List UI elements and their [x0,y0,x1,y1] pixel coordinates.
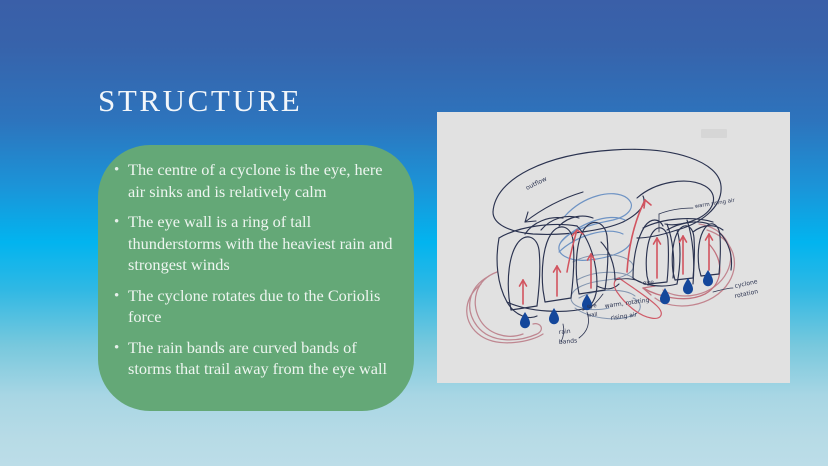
label-eye: eye [642,279,654,287]
cyclone-diagram-image: outflow warm rising air cyclone rotation… [437,112,790,383]
warm-rising-arrows-right [654,234,713,278]
list-item: • The eye wall is a ring of tall thunder… [112,211,398,276]
label-warm-rotating-line1: warm, rotating [604,297,650,310]
eye-leader-line [615,279,641,282]
list-item: • The rain bands are curved bands of sto… [112,337,398,380]
page-title: STRUCTURE [98,83,302,119]
bullet-text: The rain bands are curved bands of storm… [128,337,398,380]
bullet-marker-icon: • [112,159,128,181]
bullet-content-card: • The centre of a cyclone is the eye, he… [98,145,414,411]
bullet-marker-icon: • [112,285,128,307]
hand-drawn-cyclone-sketch: outflow warm rising air cyclone rotation… [437,112,790,383]
label-rain-bands-line1: rain [559,328,571,336]
bullet-text: The eye wall is a ring of tall thunderst… [128,211,398,276]
bullet-marker-icon: • [112,337,128,359]
warm-rising-arrows-left [520,254,595,304]
bullet-text: The cyclone rotates due to the Coriolis … [128,285,398,328]
list-item: • The centre of a cyclone is the eye, he… [112,159,398,202]
presentation-slide: STRUCTURE • The centre of a cyclone is t… [0,0,828,466]
bullet-marker-icon: • [112,211,128,233]
paper-smudge-mark [701,129,727,138]
label-outflow: outflow [525,176,548,192]
label-eye-wall-line2: wall [587,312,598,319]
upper-air-coil [559,194,632,261]
list-item: • The cyclone rotates due to the Corioli… [112,285,398,328]
label-rain-bands-line2: bands [559,337,578,346]
label-cyclone-rotation-line2: rotation [734,288,759,300]
label-warm-rising-air: warm rising air [694,198,736,210]
label-warm-rotating-line2: rising air [610,311,638,322]
label-eye-wall-line1: eye [587,303,598,310]
bullet-text: The centre of a cyclone is the eye, here… [128,159,398,202]
